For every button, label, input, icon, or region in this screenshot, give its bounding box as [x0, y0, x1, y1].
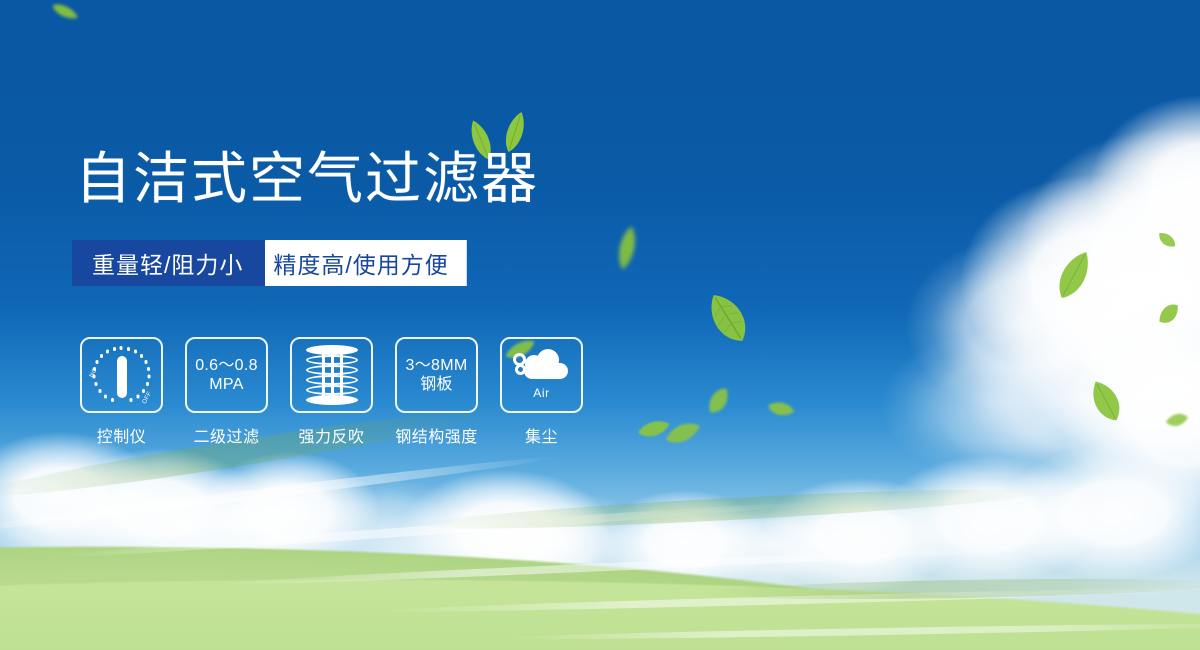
- air-text-label: Air: [533, 384, 549, 403]
- feature-item[interactable]: 强力反吹: [290, 337, 373, 447]
- subtitle-left-chip: 重量轻/阻力小: [72, 240, 265, 286]
- cloud-shape: [1090, 95, 1200, 275]
- feature-label: 控制仪: [97, 423, 147, 447]
- cloud-shape: [960, 175, 1200, 385]
- feature-item[interactable]: 3～8MM 钢板 钢结构强度: [395, 337, 478, 447]
- feature-icon-box[interactable]: 0.6～0.8 MPA: [185, 337, 268, 413]
- gauge-on-label: NO: [88, 367, 98, 378]
- feature-label: 强力反吹: [298, 423, 364, 447]
- feature-item[interactable]: 0.6～0.8 MPA 二级过滤: [185, 337, 268, 447]
- subtitle-bar: 重量轻/阻力小 精度高/使用方便: [72, 240, 462, 286]
- feature-item[interactable]: NO OFF 控制仪: [80, 337, 163, 447]
- page-title: 自洁式空气过滤器: [75, 146, 539, 212]
- product-banner: 自洁式空气过滤器 重量轻/阻力小 精度高/使用方便: [0, 0, 1200, 650]
- leaf-icon: [1152, 225, 1182, 255]
- leaf-icon: [611, 223, 642, 273]
- leaf-icon: [694, 282, 763, 354]
- gauge-off-label: OFF: [141, 391, 152, 405]
- feature-label: 二级过滤: [193, 423, 259, 447]
- cloud-shape: [1100, 190, 1200, 350]
- feature-icon-box[interactable]: 3～8MM 钢板: [395, 337, 478, 413]
- leaf-icon: [1045, 242, 1104, 308]
- leaf-icon: [1150, 295, 1188, 333]
- cloud-shape: [1020, 128, 1200, 358]
- hill-front: [0, 480, 1200, 650]
- feature-icon-box[interactable]: [290, 337, 373, 413]
- feature-icon-box[interactable]: Air: [500, 337, 583, 413]
- feature-icon-box[interactable]: NO OFF: [80, 337, 163, 413]
- gauge-dial-icon: NO OFF: [89, 344, 155, 406]
- feature-label: 钢结构强度: [395, 423, 478, 447]
- leaf-icon: [47, 0, 83, 28]
- steel-plate-unit-text: 钢板: [420, 375, 453, 394]
- coil-filter-icon: [306, 345, 358, 405]
- gauge-needle: [117, 356, 127, 398]
- feature-label: 集尘: [525, 423, 558, 447]
- steel-plate-text-icon: 3～8MM: [406, 356, 468, 375]
- pressure-text-icon: 0.6～0.8: [195, 356, 258, 375]
- air-cloud-icon: [513, 347, 571, 381]
- feature-item[interactable]: Air 集尘: [500, 337, 583, 447]
- subtitle-right-chip: 精度高/使用方便: [247, 240, 466, 286]
- pressure-unit-text: MPA: [209, 375, 243, 394]
- feature-list: NO OFF 控制仪 0.6～0.8 MPA 二级过滤: [80, 337, 583, 447]
